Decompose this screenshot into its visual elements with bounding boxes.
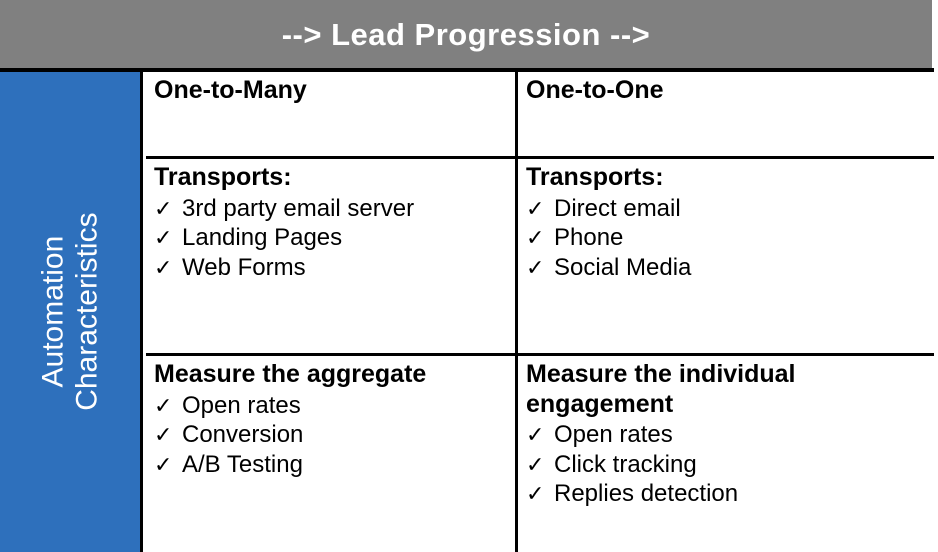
list-item: ✓ Click tracking bbox=[526, 450, 934, 480]
cell-transports-one-to-many: Transports: ✓ 3rd party email server ✓ L… bbox=[146, 159, 518, 353]
list-item-label: Replies detection bbox=[554, 479, 738, 509]
banner-header: --> Lead Progression --> bbox=[0, 0, 932, 68]
list-item-label: A/B Testing bbox=[182, 450, 303, 480]
cell-item-list: ✓ 3rd party email server ✓ Landing Pages… bbox=[154, 194, 515, 283]
list-item: ✓ Phone bbox=[526, 223, 934, 253]
check-icon: ✓ bbox=[526, 480, 554, 507]
check-icon: ✓ bbox=[154, 421, 182, 448]
list-item-label: Direct email bbox=[554, 194, 681, 224]
list-item-label: Conversion bbox=[182, 420, 303, 450]
list-item: ✓ 3rd party email server bbox=[154, 194, 515, 224]
list-item: ✓ Conversion bbox=[154, 420, 515, 450]
axis-label: Automation Characteristics bbox=[36, 213, 103, 411]
cell-title: Measure the aggregate bbox=[154, 360, 515, 390]
column-header-label: One-to-Many bbox=[154, 76, 515, 106]
lead-progression-matrix: --> Lead Progression --> Automation Char… bbox=[0, 0, 938, 548]
list-item-label: Phone bbox=[554, 223, 623, 253]
check-icon: ✓ bbox=[154, 451, 182, 478]
matrix-row-transports: Transports: ✓ 3rd party email server ✓ L… bbox=[146, 156, 934, 353]
banner-title: --> Lead Progression --> bbox=[282, 19, 651, 50]
list-item: ✓ Landing Pages bbox=[154, 223, 515, 253]
list-item-label: Open rates bbox=[182, 391, 301, 421]
column-header-label: One-to-One bbox=[526, 76, 934, 106]
list-item-label: Web Forms bbox=[182, 253, 306, 283]
check-icon: ✓ bbox=[154, 224, 182, 251]
list-item-label: Click tracking bbox=[554, 450, 697, 480]
list-item: ✓ Open rates bbox=[154, 391, 515, 421]
column-header-one-to-many: One-to-Many bbox=[146, 72, 518, 156]
list-item: ✓ Direct email bbox=[526, 194, 934, 224]
list-item: ✓ A/B Testing bbox=[154, 450, 515, 480]
axis-strip-automation-characteristics: Automation Characteristics bbox=[0, 72, 143, 552]
list-item-label: Landing Pages bbox=[182, 223, 342, 253]
cell-item-list: ✓ Direct email ✓ Phone ✓ Social Media bbox=[526, 194, 934, 283]
check-icon: ✓ bbox=[154, 195, 182, 222]
list-item: ✓ Web Forms bbox=[154, 253, 515, 283]
matrix-cells: One-to-Many One-to-One Transports: ✓ 3rd… bbox=[146, 72, 934, 552]
cell-item-list: ✓ Open rates ✓ Click tracking ✓ Replies … bbox=[526, 420, 934, 509]
list-item: ✓ Social Media bbox=[526, 253, 934, 283]
cell-measurement-one-to-many: Measure the aggregate ✓ Open rates ✓ Con… bbox=[146, 356, 518, 552]
list-item-label: 3rd party email server bbox=[182, 194, 414, 224]
check-icon: ✓ bbox=[526, 224, 554, 251]
check-icon: ✓ bbox=[154, 254, 182, 281]
list-item-label: Open rates bbox=[554, 420, 673, 450]
column-header-one-to-one: One-to-One bbox=[518, 72, 934, 156]
cell-transports-one-to-one: Transports: ✓ Direct email ✓ Phone ✓ Soc bbox=[518, 159, 934, 353]
cell-measurement-one-to-one: Measure the individual engagement ✓ Open… bbox=[518, 356, 934, 552]
matrix-header-row: One-to-Many One-to-One bbox=[146, 72, 934, 156]
check-icon: ✓ bbox=[526, 421, 554, 448]
check-icon: ✓ bbox=[526, 254, 554, 281]
cell-item-list: ✓ Open rates ✓ Conversion ✓ A/B Testing bbox=[154, 391, 515, 480]
matrix-row-measurement: Measure the aggregate ✓ Open rates ✓ Con… bbox=[146, 353, 934, 552]
axis-label-line-1: Automation bbox=[36, 213, 70, 411]
list-item: ✓ Open rates bbox=[526, 420, 934, 450]
cell-title: Transports: bbox=[154, 163, 515, 193]
check-icon: ✓ bbox=[154, 392, 182, 419]
check-icon: ✓ bbox=[526, 195, 554, 222]
cell-title: Measure the individual engagement bbox=[526, 360, 934, 419]
cell-title: Transports: bbox=[526, 163, 934, 193]
list-item: ✓ Replies detection bbox=[526, 479, 934, 509]
axis-label-line-2: Characteristics bbox=[70, 213, 104, 411]
check-icon: ✓ bbox=[526, 451, 554, 478]
list-item-label: Social Media bbox=[554, 253, 691, 283]
matrix-grid: Automation Characteristics One-to-Many O… bbox=[0, 68, 934, 548]
